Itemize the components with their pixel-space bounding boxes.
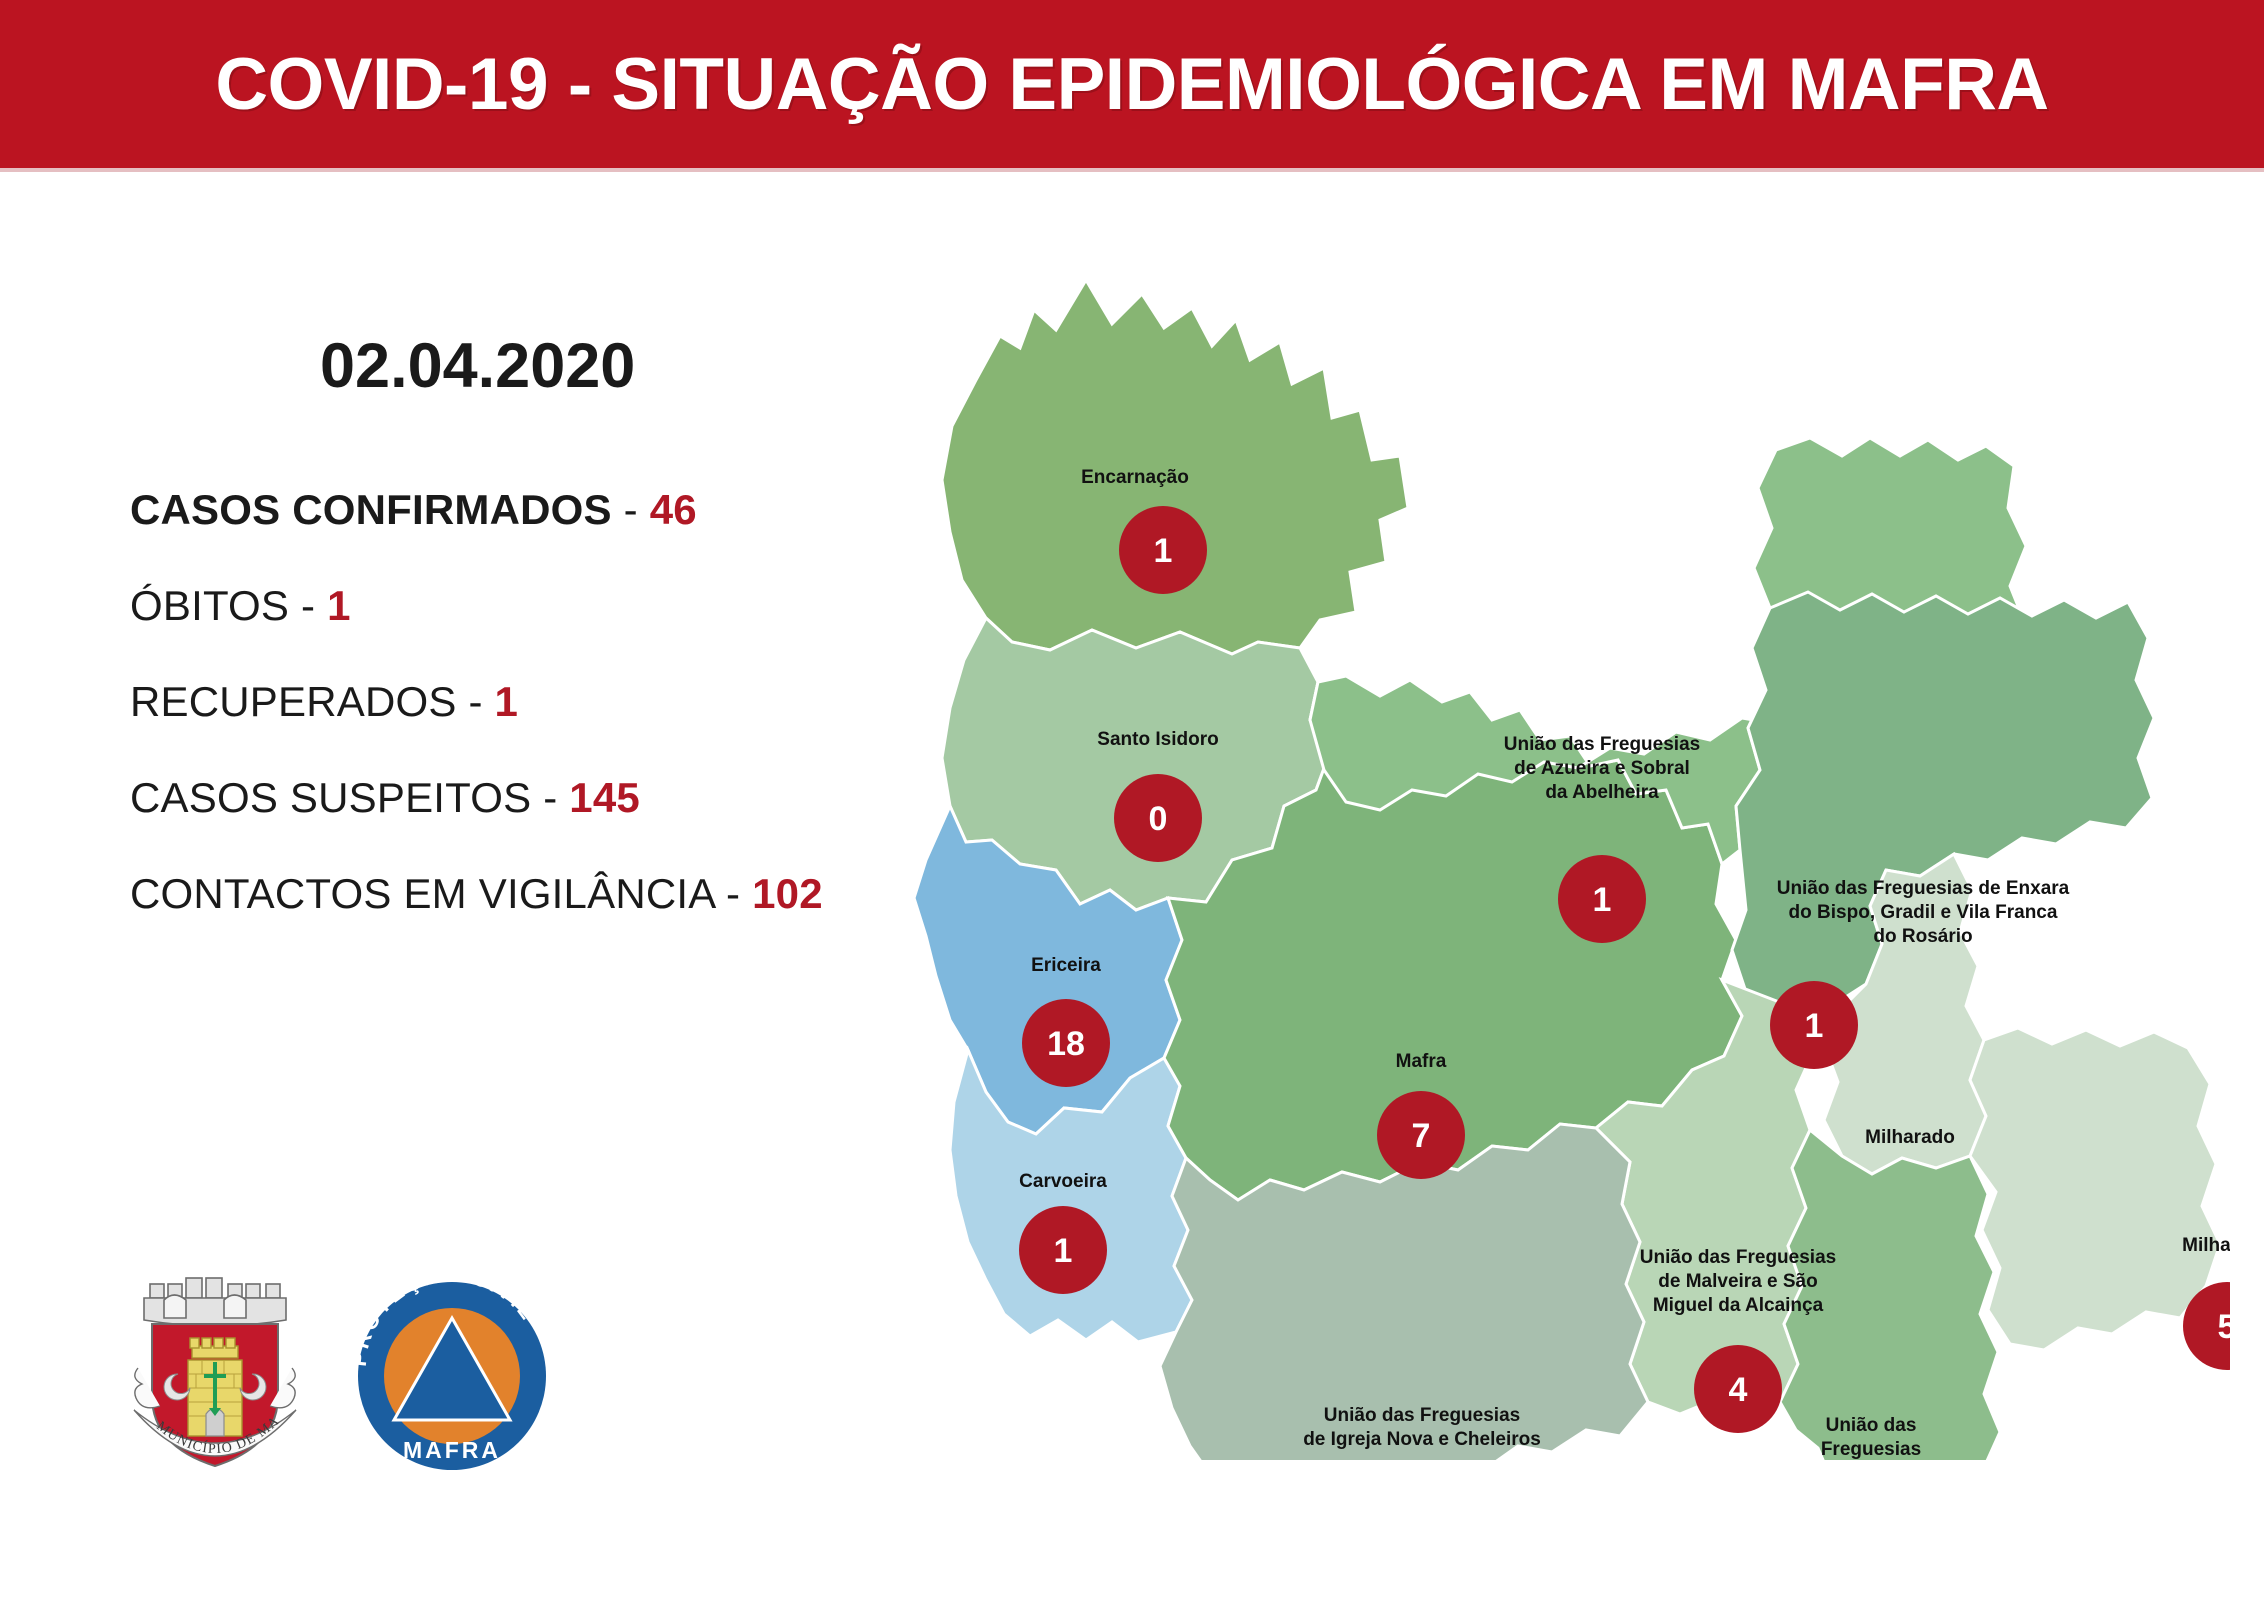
stat-value: 102 bbox=[752, 870, 823, 917]
case-count-marker-mafra[interactable]: 7 bbox=[1377, 1091, 1465, 1179]
marker-case-count: 18 bbox=[1047, 1025, 1085, 1063]
statistics-panel: 02.04.2020 CASOS CONFIRMADOS - 46ÓBITOS … bbox=[130, 330, 890, 966]
region-label-santo-isidoro: Santo Isidoro bbox=[1097, 729, 1218, 750]
map-svg: Encarnação1Santo Isidoro0União das Fregu… bbox=[880, 250, 2230, 1460]
region-label-line: de Igreja Nova e Cheleiros bbox=[1303, 1429, 1541, 1450]
region-label-line: Ericeira bbox=[1031, 955, 1101, 976]
map-regions-layer bbox=[914, 280, 2220, 1460]
region-label-line: União das Freguesias bbox=[1324, 1405, 1520, 1426]
region-label-line: Milharado bbox=[2182, 1235, 2230, 1256]
page-title: COVID-19 - SITUAÇÃO EPIDEMIOLÓGICA EM MA… bbox=[0, 0, 2264, 168]
marker-case-count: 1 bbox=[1054, 1232, 1073, 1270]
header-underline-divider bbox=[0, 168, 2264, 172]
region-label-line: da Abelheira bbox=[1545, 782, 1659, 803]
case-count-marker-uf-malveira-sao-miguel-alcainca[interactable]: 4 bbox=[1694, 1345, 1782, 1433]
region-label-milharado-west-exclave: Milharado bbox=[1865, 1127, 1955, 1148]
statistics-list: CASOS CONFIRMADOS - 46ÓBITOS - 1RECUPERA… bbox=[130, 486, 890, 918]
region-label-line: de Azueira e Sobral bbox=[1514, 758, 1690, 779]
stat-label: CASOS CONFIRMADOS bbox=[130, 486, 612, 533]
marker-case-count: 0 bbox=[1149, 800, 1168, 838]
mafra-municipality-map: Encarnação1Santo Isidoro0União das Fregu… bbox=[880, 250, 2230, 1460]
region-label-line: Carvoeira bbox=[1019, 1171, 1107, 1192]
region-label-uf-malveira-sao-miguel-alcainca: União das Freguesiasde Malveira e SãoMig… bbox=[1640, 1247, 1836, 1316]
marker-case-count: 1 bbox=[1593, 881, 1612, 919]
stat-row: CASOS SUSPEITOS - 145 bbox=[130, 774, 890, 822]
stat-row: RECUPERADOS - 1 bbox=[130, 678, 890, 726]
stat-value: 1 bbox=[495, 678, 519, 725]
stat-label: CONTACTOS EM VIGILÂNCIA bbox=[130, 870, 714, 917]
case-count-marker-encarnacao[interactable]: 1 bbox=[1119, 506, 1207, 594]
region-label-line: Miguel da Alcainça bbox=[1653, 1295, 1824, 1316]
stat-label: CASOS SUSPEITOS bbox=[130, 774, 531, 821]
stat-separator: - bbox=[714, 870, 752, 917]
region-label-line: União das Freguesias de Enxara bbox=[1777, 878, 2070, 899]
case-count-marker-uf-enxara-bispo-gradil-vila-franca-rosario[interactable]: 1 bbox=[1770, 981, 1858, 1069]
protecao-civil-caption-bottom: MAFRA bbox=[403, 1437, 501, 1463]
stat-label: RECUPERADOS bbox=[130, 678, 457, 725]
protecao-civil-mafra-logo: PROTEÇÃO CIVIL MAFRA bbox=[352, 1276, 552, 1476]
region-label-line: do Bispo, Gradil e Vila Franca bbox=[1789, 902, 2058, 923]
region-label-line: União das Freguesias bbox=[1504, 734, 1700, 755]
stat-separator: - bbox=[531, 774, 569, 821]
stat-row: ÓBITOS - 1 bbox=[130, 582, 890, 630]
stat-separator: - bbox=[289, 582, 327, 629]
region-label-line: União das bbox=[1826, 1415, 1917, 1436]
region-label-line: Freguesias bbox=[1821, 1439, 1921, 1460]
logo-group: MUNICÍPIO DE MAFRA PROTEÇÃO CIVIL MAFRA bbox=[120, 1250, 540, 1500]
region-label-line: de Malveira e São bbox=[1658, 1271, 1817, 1292]
region-label-line: Milharado bbox=[1865, 1127, 1955, 1148]
stat-row: CONTACTOS EM VIGILÂNCIA - 102 bbox=[130, 870, 890, 918]
marker-case-count: 4 bbox=[1729, 1371, 1748, 1409]
municipio-de-mafra-coat-of-arms-logo: MUNICÍPIO DE MAFRA bbox=[120, 1250, 310, 1500]
case-count-marker-carvoeira[interactable]: 1 bbox=[1019, 1206, 1107, 1294]
stat-label: ÓBITOS bbox=[130, 582, 289, 629]
stat-value: 46 bbox=[650, 486, 697, 533]
stat-value: 145 bbox=[569, 774, 640, 821]
stat-separator: - bbox=[457, 678, 495, 725]
region-label-line: Mafra bbox=[1396, 1051, 1447, 1072]
region-label-line: Encarnação bbox=[1081, 467, 1189, 488]
header-banner: COVID-19 - SITUAÇÃO EPIDEMIOLÓGICA EM MA… bbox=[0, 0, 2264, 168]
marker-case-count: 1 bbox=[1805, 1007, 1824, 1045]
marker-case-count: 1 bbox=[1154, 532, 1173, 570]
stat-row: CASOS CONFIRMADOS - 46 bbox=[130, 486, 890, 534]
region-label-line: União das Freguesias bbox=[1640, 1247, 1836, 1268]
stat-separator: - bbox=[612, 486, 650, 533]
region-label-encarnacao: Encarnação bbox=[1081, 467, 1189, 488]
region-milharado[interactable] bbox=[1970, 1028, 2220, 1350]
case-count-marker-uf-azueira-sobral-abelheira[interactable]: 1 bbox=[1558, 855, 1646, 943]
marker-case-count: 7 bbox=[1412, 1117, 1431, 1155]
marker-case-count: 5 bbox=[2218, 1308, 2230, 1346]
region-label-line: do Rosário bbox=[1873, 926, 1972, 947]
stat-value: 1 bbox=[327, 582, 351, 629]
report-date: 02.04.2020 bbox=[320, 330, 890, 402]
case-count-marker-ericeira[interactable]: 18 bbox=[1022, 999, 1110, 1087]
region-label-line: Santo Isidoro bbox=[1097, 729, 1218, 750]
region-label-ericeira: Ericeira bbox=[1031, 955, 1101, 976]
region-label-mafra: Mafra bbox=[1396, 1051, 1447, 1072]
region-label-carvoeira: Carvoeira bbox=[1019, 1171, 1107, 1192]
case-count-marker-santo-isidoro[interactable]: 0 bbox=[1114, 774, 1202, 862]
region-label-milharado: Milharado bbox=[2182, 1235, 2230, 1256]
